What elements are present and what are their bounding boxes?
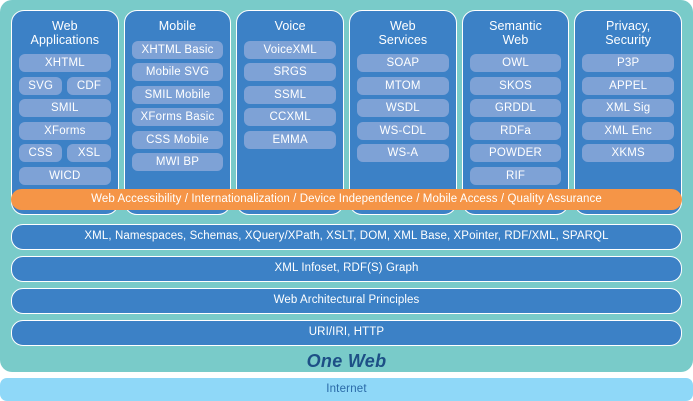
pill-row: XHTML Basic [132, 41, 224, 59]
tech-pill-smil[interactable]: SMIL [19, 99, 111, 117]
tech-pill-xml-enc[interactable]: XML Enc [582, 122, 674, 140]
pill-row: SSML [244, 86, 336, 104]
pill-row: CSS XSL [19, 144, 111, 162]
tech-pill-powder[interactable]: POWDER [470, 144, 562, 162]
tech-pill-cdf[interactable]: CDF [67, 77, 110, 95]
pill-row: SRGS [244, 63, 336, 81]
tech-pill-grddl[interactable]: GRDDL [470, 99, 562, 117]
tech-pill-svg[interactable]: SVG [19, 77, 62, 95]
tech-pill-css-mobile[interactable]: CSS Mobile [132, 131, 224, 149]
pill-row: SOAP [357, 54, 449, 72]
pill-row: MWI BP [132, 153, 224, 171]
tech-pill-appel[interactable]: APPEL [582, 77, 674, 95]
pill-list: P3P APPEL XML Sig XML Enc XKMS [582, 54, 674, 162]
column-privacy-security[interactable]: Privacy, Security P3P APPEL XML Sig XML … [574, 10, 682, 215]
column-title: Privacy, Security [582, 20, 674, 47]
tech-pill-xml-sig[interactable]: XML Sig [582, 99, 674, 117]
tech-pill-mwi-bp[interactable]: MWI BP [132, 153, 224, 171]
tech-pill-mtom[interactable]: MTOM [357, 77, 449, 95]
pill-row: POWDER [470, 144, 562, 162]
column-title: Semantic Web [470, 20, 562, 47]
pill-row: CSS Mobile [132, 131, 224, 149]
pill-row: VoiceXML [244, 41, 336, 59]
pill-row: WICD [19, 167, 111, 185]
pill-row: RDFa [470, 122, 562, 140]
pill-list: VoiceXML SRGS SSML CCXML EMMA [244, 41, 336, 149]
pill-row: XForms [19, 122, 111, 140]
foundation-bar-web-architectural-principles[interactable]: Web Architectural Principles [11, 288, 682, 314]
tech-pill-css[interactable]: CSS [19, 144, 62, 162]
tech-pill-xhtml-basic[interactable]: XHTML Basic [132, 41, 224, 59]
tech-pill-xforms[interactable]: XForms [19, 122, 111, 140]
column-title: Voice [244, 20, 336, 34]
tech-pill-srgs[interactable]: SRGS [244, 63, 336, 81]
one-web-label: One Web [11, 346, 682, 376]
tech-pill-rdfa[interactable]: RDFa [470, 122, 562, 140]
pill-row: MTOM [357, 77, 449, 95]
column-web-services[interactable]: Web Services SOAP MTOM WSDL WS-CDL [349, 10, 457, 215]
pill-row: WSDL [357, 99, 449, 117]
tech-pill-ws-a[interactable]: WS-A [357, 144, 449, 162]
foundation-bar-xml-infoset[interactable]: XML Infoset, RDF(S) Graph [11, 256, 682, 282]
pill-row: SMIL [19, 99, 111, 117]
pill-row: P3P [582, 54, 674, 72]
pill-row: SMIL Mobile [132, 86, 224, 104]
technology-columns: Web Applications XHTML SVG CDF SMIL XFor… [11, 10, 682, 215]
tech-pill-mobile-svg[interactable]: Mobile SVG [132, 63, 224, 81]
tech-pill-p3p[interactable]: P3P [582, 54, 674, 72]
tech-pill-wicd[interactable]: WICD [19, 167, 111, 185]
pill-list: SOAP MTOM WSDL WS-CDL WS-A [357, 54, 449, 162]
pill-row: XKMS [582, 144, 674, 162]
foundation-bar-uri-http[interactable]: URI/IRI, HTTP [11, 320, 682, 346]
pill-row: CCXML [244, 108, 336, 126]
tech-pill-ssml[interactable]: SSML [244, 86, 336, 104]
one-web-panel: Web Applications XHTML SVG CDF SMIL XFor… [0, 0, 693, 372]
tech-pill-soap[interactable]: SOAP [357, 54, 449, 72]
tech-pill-xkms[interactable]: XKMS [582, 144, 674, 162]
pill-row: RIF [470, 167, 562, 185]
pill-list: OWL SKOS GRDDL RDFa POWDER RIF [470, 54, 562, 185]
column-voice[interactable]: Voice VoiceXML SRGS SSML CCXML E [236, 10, 344, 215]
foundation-bars: XML, Namespaces, Schemas, XQuery/XPath, … [11, 224, 682, 346]
tech-pill-xforms-basic[interactable]: XForms Basic [132, 108, 224, 126]
pill-row: XML Sig [582, 99, 674, 117]
tech-pill-owl[interactable]: OWL [470, 54, 562, 72]
w3c-technology-stack-diagram: Web Applications XHTML SVG CDF SMIL XFor… [0, 0, 693, 401]
foundation-bar-xml-technologies[interactable]: XML, Namespaces, Schemas, XQuery/XPath, … [11, 224, 682, 250]
column-title: Web Applications [19, 20, 111, 47]
column-mobile[interactable]: Mobile XHTML Basic Mobile SVG SMIL Mobil… [124, 10, 232, 215]
tech-pill-smil-mobile[interactable]: SMIL Mobile [132, 86, 224, 104]
pill-row: OWL [470, 54, 562, 72]
pill-row: Mobile SVG [132, 63, 224, 81]
pill-list: XHTML Basic Mobile SVG SMIL Mobile XForm… [132, 41, 224, 172]
pill-row: XForms Basic [132, 108, 224, 126]
pill-list: XHTML SVG CDF SMIL XForms CSS XSL [19, 54, 111, 185]
pill-row: SKOS [470, 77, 562, 95]
pill-row: WS-A [357, 144, 449, 162]
tech-pill-rif[interactable]: RIF [470, 167, 562, 185]
cross-cutting-concerns-band[interactable]: Web Accessibility / Internationalization… [11, 189, 682, 210]
tech-pill-ws-cdl[interactable]: WS-CDL [357, 122, 449, 140]
column-semantic-web[interactable]: Semantic Web OWL SKOS GRDDL RDFa [462, 10, 570, 215]
pill-row: WS-CDL [357, 122, 449, 140]
tech-pill-voicexml[interactable]: VoiceXML [244, 41, 336, 59]
pill-row: XML Enc [582, 122, 674, 140]
tech-pill-skos[interactable]: SKOS [470, 77, 562, 95]
pill-row: SVG CDF [19, 77, 111, 95]
internet-layer-bar[interactable]: Internet [0, 378, 693, 401]
column-web-applications[interactable]: Web Applications XHTML SVG CDF SMIL XFor… [11, 10, 119, 215]
pill-row: XHTML [19, 54, 111, 72]
pill-row: GRDDL [470, 99, 562, 117]
pill-row: APPEL [582, 77, 674, 95]
tech-pill-xsl[interactable]: XSL [67, 144, 110, 162]
column-title: Web Services [357, 20, 449, 47]
column-title: Mobile [132, 20, 224, 34]
tech-pill-wsdl[interactable]: WSDL [357, 99, 449, 117]
tech-pill-xhtml[interactable]: XHTML [19, 54, 111, 72]
tech-pill-emma[interactable]: EMMA [244, 131, 336, 149]
pill-row: EMMA [244, 131, 336, 149]
tech-pill-ccxml[interactable]: CCXML [244, 108, 336, 126]
